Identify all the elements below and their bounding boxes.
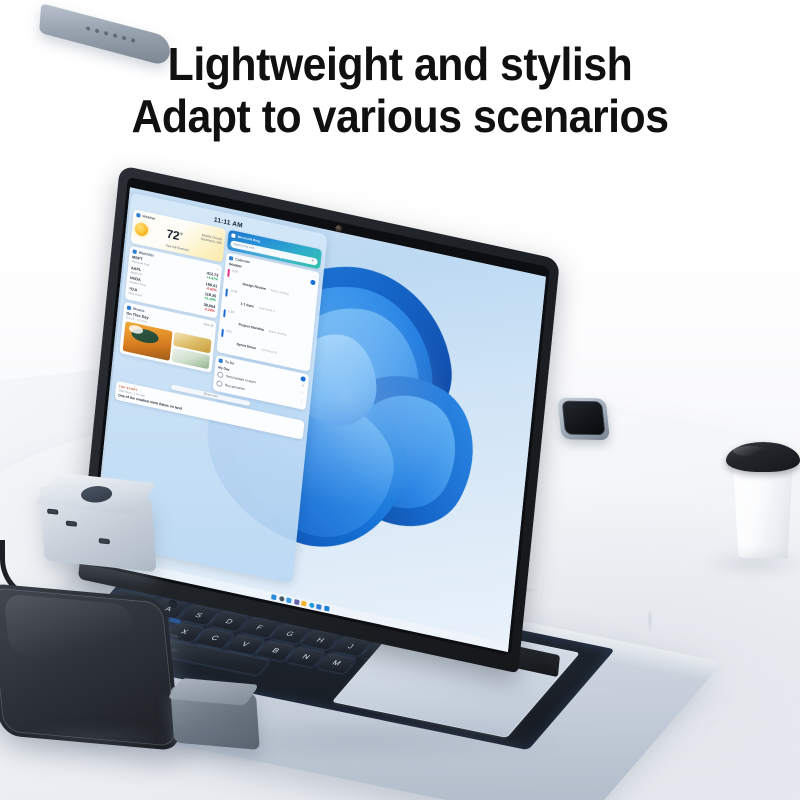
- smartwatch-case: [557, 398, 610, 441]
- sun-icon: [134, 222, 148, 238]
- weather-location-block: Mostly Cloudy Redmond, WA: [201, 233, 222, 246]
- search-icon[interactable]: [279, 596, 285, 602]
- event-time: 3:00: [226, 330, 235, 335]
- photos-icon: [127, 305, 131, 310]
- avatar[interactable]: [310, 279, 316, 285]
- headline-line-2: Adapt to various scenarios: [28, 90, 772, 142]
- star-icon[interactable]: ☆: [300, 399, 303, 404]
- bird-icon: ❰: [279, 254, 282, 258]
- widgets-column-left: Weather ⋯ 72°F: [118, 209, 227, 389]
- smartwatch: [557, 398, 622, 447]
- event-time: 1:30: [228, 310, 237, 315]
- calendar-day-label: October: [229, 262, 242, 269]
- calendar-more-icon[interactable]: ⋯: [312, 273, 316, 278]
- watchlist-row-left: ^DJI Dow Jones: [128, 286, 143, 297]
- todo-title: To Do: [225, 360, 235, 366]
- headline: Lightweight and stylish Adapt to various…: [0, 38, 800, 142]
- event-color-bar: [223, 309, 225, 317]
- weather-more-icon[interactable]: ⋯: [219, 231, 223, 236]
- event-sub: Conf Room B: [260, 348, 276, 354]
- photos-see-all-link[interactable]: See all: [203, 322, 213, 328]
- key-m[interactable]: M: [317, 653, 356, 673]
- event-color-bar: [228, 268, 230, 276]
- laptop: Esc F1 F2 F3 F4 F5 F6 F7 F8 ⏻ Q W E R T …: [105, 165, 745, 725]
- explorer-icon[interactable]: [301, 601, 307, 607]
- mail-icon[interactable]: [324, 606, 330, 612]
- event-name: Sprint Demo: [236, 342, 256, 350]
- event-name: Project Standup: [238, 322, 264, 331]
- edge-icon[interactable]: [309, 602, 315, 608]
- event-sub: Teams meeting: [270, 288, 289, 295]
- watchlist-row-left: AAPL Apple Inc: [130, 266, 142, 276]
- watchlist-row-left: NVDA NVIDIA Corp: [129, 276, 146, 287]
- event-sub: Conf Room A: [258, 307, 274, 313]
- todo-icon: [219, 358, 223, 363]
- avatar[interactable]: [300, 375, 306, 381]
- coffee-cup: [726, 430, 800, 558]
- todo-item-text: Buy groceries: [225, 382, 245, 390]
- bing-icon: [231, 233, 235, 238]
- table-reflection: [700, 548, 800, 578]
- widgets-icon[interactable]: [286, 597, 292, 603]
- usb-a-port[interactable]: [169, 617, 181, 624]
- strap-hole: [86, 26, 90, 31]
- event-color-bar: [225, 288, 227, 296]
- usb-c-hub-port: [99, 538, 110, 544]
- event-time: 9:00: [232, 269, 241, 274]
- watchlist-row-right: 38,654 -0.28%: [203, 302, 215, 312]
- watchlist-row-right: 118.20 +2.19%: [204, 292, 216, 302]
- widgets-column-right: Microsoft Bing Search the web ⚲ ❰ ❰: [213, 230, 322, 410]
- bird-icon: ❰: [255, 248, 258, 252]
- star-icon[interactable]: ☆: [301, 390, 304, 395]
- store-icon[interactable]: [317, 604, 323, 610]
- checkbox[interactable]: [217, 371, 224, 378]
- calendar-widget[interactable]: Calendar ⋯ October 9:0: [217, 252, 319, 371]
- weather-temp-block: 72°F: [166, 226, 183, 243]
- event-name: 1:1 Sync: [240, 302, 254, 309]
- coffee-cup-lid: [726, 442, 800, 472]
- todo-list-name: My Day: [218, 365, 230, 371]
- event-time: 11:00: [230, 289, 239, 294]
- event-sub: Teams meeting: [268, 329, 287, 336]
- event-name: Design Review: [243, 282, 267, 291]
- watchlist-icon: [133, 249, 137, 254]
- usb-c-hub-port: [47, 509, 58, 515]
- weather-icon: [136, 213, 140, 218]
- headline-line-1: Lightweight and stylish: [28, 38, 772, 90]
- watchlist-row-right: 412.73 +1.47%: [206, 271, 218, 281]
- todo-more-icon[interactable]: ⊕: [302, 383, 305, 387]
- watchlist-row-right: 189.41 -0.62%: [205, 282, 217, 292]
- strap-hole: [95, 28, 99, 33]
- usb-c-port-1[interactable]: [169, 633, 179, 639]
- strap-hole: [104, 31, 108, 36]
- weather-temperature: 72°F: [166, 226, 183, 243]
- table-reflection: [10, 724, 180, 754]
- start-icon[interactable]: [271, 594, 277, 600]
- usb-c-hub-port: [66, 521, 77, 527]
- watchlist-more-icon[interactable]: ⋯: [216, 267, 220, 272]
- headphone-jack-port[interactable]: [169, 599, 177, 609]
- checkbox[interactable]: [216, 380, 223, 387]
- smartwatch-screen: [562, 401, 606, 436]
- table-reflection: [150, 716, 570, 764]
- event-color-bar: [221, 329, 223, 337]
- photo-thumbnail-column: [171, 332, 211, 370]
- teams-icon[interactable]: [294, 599, 300, 605]
- product-marketing-image: Lightweight and stylish Adapt to various…: [0, 0, 800, 800]
- smartphone-sheen: [4, 594, 137, 666]
- calendar-icon: [229, 255, 233, 260]
- usb-c-hub: [40, 486, 157, 573]
- weather-unit: °F: [179, 231, 183, 237]
